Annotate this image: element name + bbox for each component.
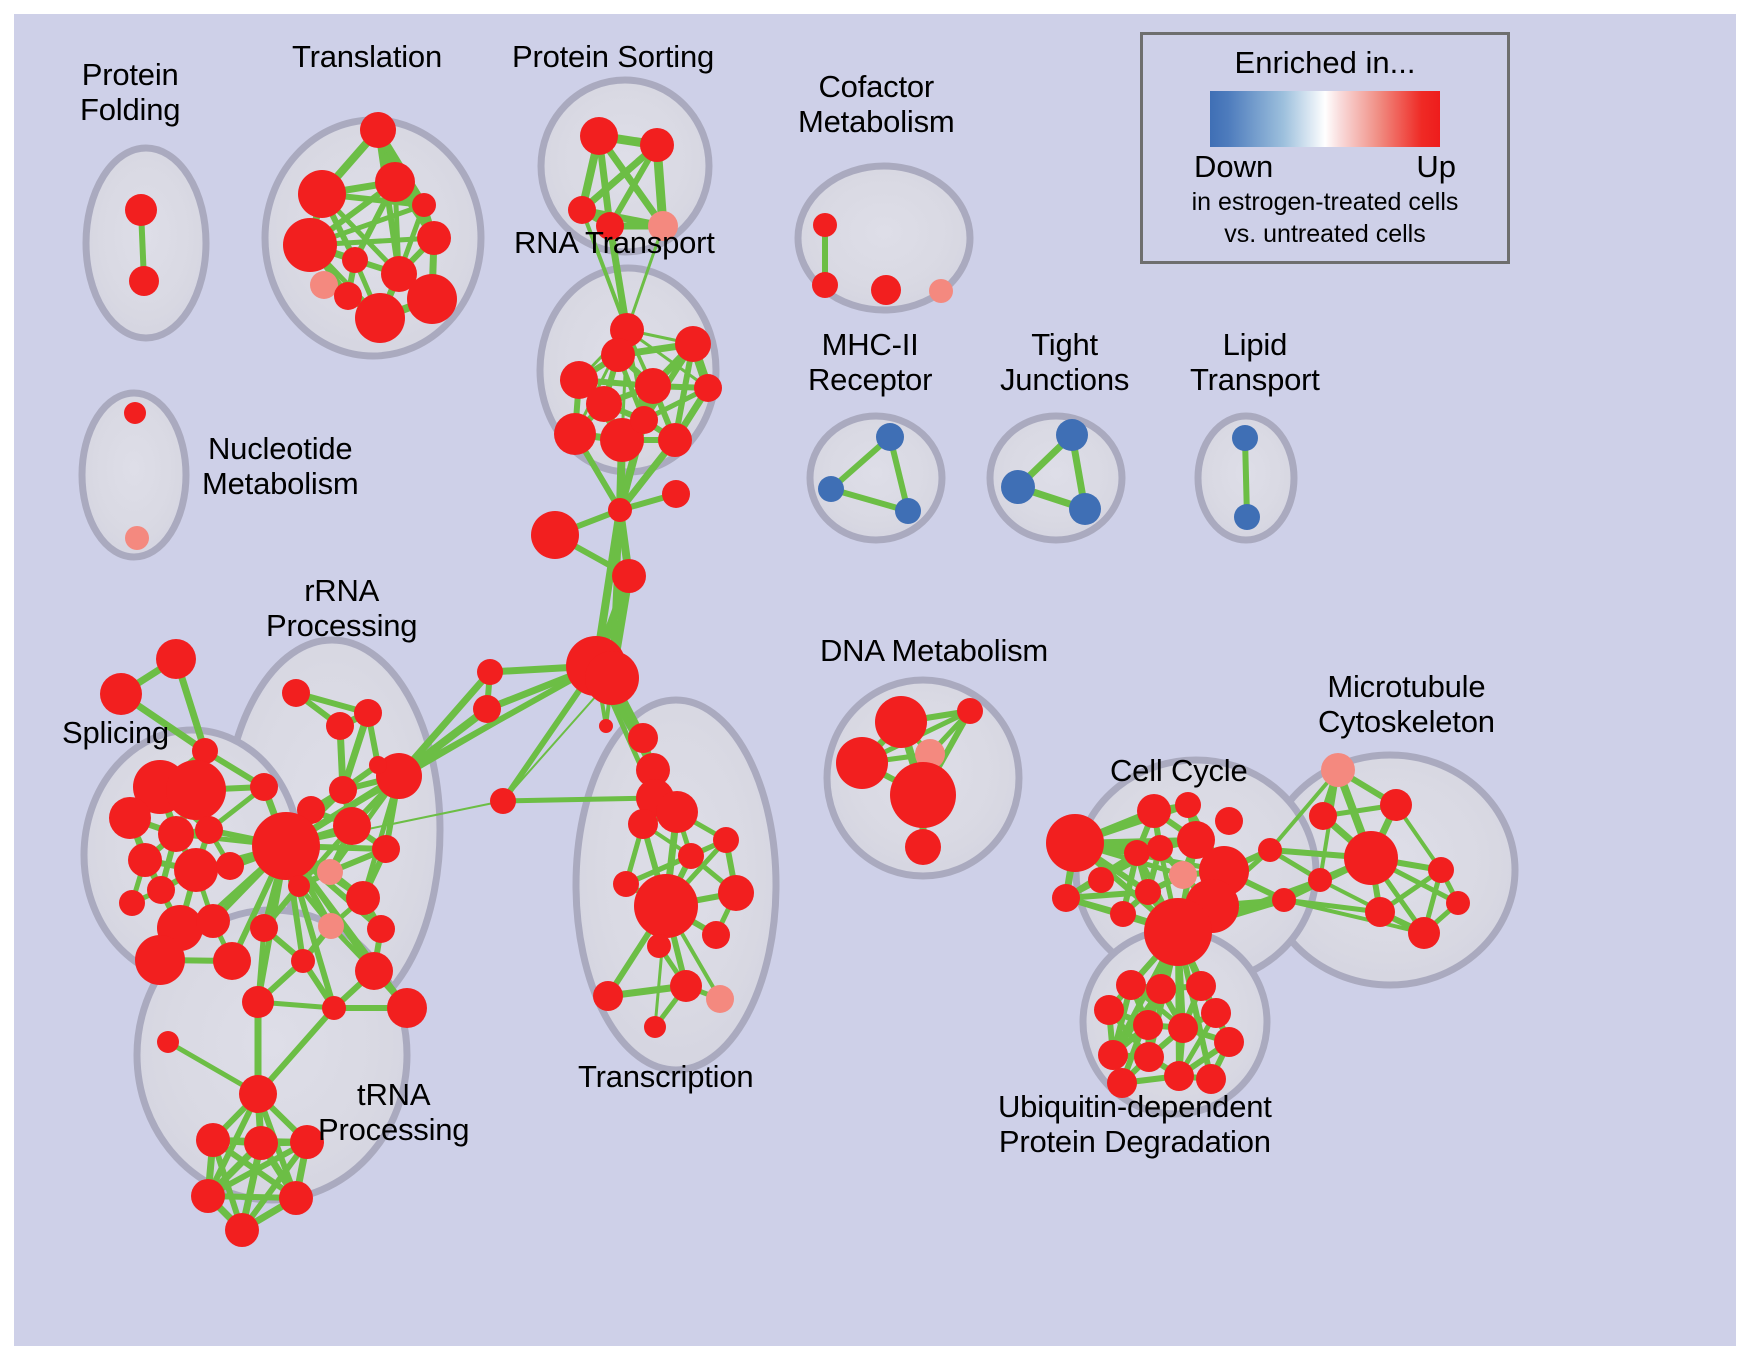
figure-canvas: Protein Folding Translation Protein Sort… (0, 0, 1750, 1360)
cluster-label-mhc-ii-receptor: MHC-II Receptor (808, 328, 932, 397)
cluster-label-microtubule-cytoskeleton: Microtubule Cytoskeleton (1318, 670, 1495, 739)
cluster-label-ubiquitin-degradation: Ubiquitin-dependent Protein Degradation (998, 1090, 1272, 1159)
cluster-label-trna-processing: tRNA Processing (318, 1078, 469, 1147)
legend-subtitle-line2: vs. untreated cells (1143, 219, 1507, 249)
cluster-label-rrna-processing: rRNA Processing (266, 574, 417, 643)
cluster-label-cofactor-metabolism: Cofactor Metabolism (798, 70, 955, 139)
legend-down-label: Down (1194, 149, 1273, 185)
cluster-label-protein-sorting: Protein Sorting (512, 40, 714, 75)
legend-box: Enriched in... Down Up in estrogen-treat… (1140, 32, 1510, 264)
legend-subtitle-line1: in estrogen-treated cells (1143, 187, 1507, 217)
legend-endpoint-labels: Down Up (1194, 149, 1456, 185)
cluster-label-translation: Translation (292, 40, 442, 75)
cluster-label-lipid-transport: Lipid Transport (1190, 328, 1320, 397)
hull-protein-folding (86, 148, 206, 338)
cluster-label-protein-folding: Protein Folding (80, 58, 180, 127)
cluster-label-transcription: Transcription (578, 1060, 753, 1095)
legend-up-label: Up (1416, 149, 1456, 185)
cluster-label-cell-cycle: Cell Cycle (1110, 754, 1248, 789)
cluster-label-rna-transport: RNA Transport (514, 226, 715, 261)
cluster-label-dna-metabolism: DNA Metabolism (820, 634, 1048, 669)
legend-color-gradient-bar (1210, 91, 1440, 147)
cluster-label-splicing: Splicing (62, 716, 169, 751)
cluster-label-tight-junctions: Tight Junctions (1000, 328, 1129, 397)
legend-title: Enriched in... (1143, 45, 1507, 81)
cluster-label-nucleotide-metabolism: Nucleotide Metabolism (202, 432, 359, 501)
